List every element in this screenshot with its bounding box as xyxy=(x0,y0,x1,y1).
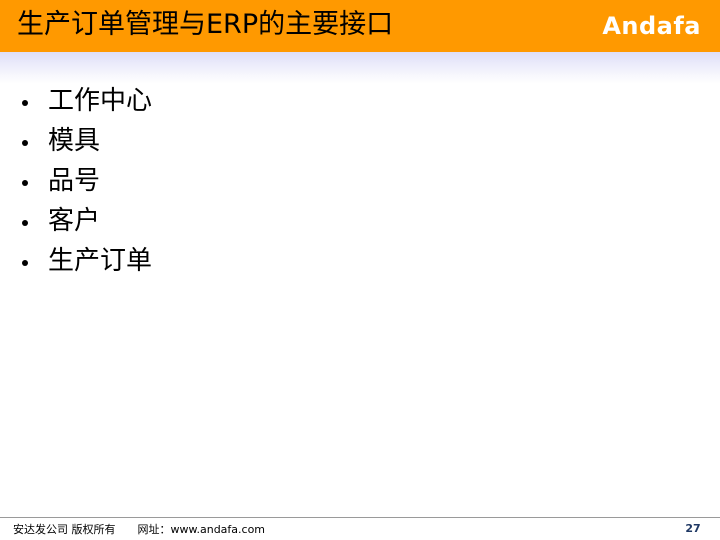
list-item-label: 客户 xyxy=(48,204,100,238)
bullet-dot-icon xyxy=(22,220,28,226)
slide-body: 工作中心 模具 品号 客户 生产订单 xyxy=(0,84,720,494)
bullet-list: 工作中心 模具 品号 客户 生产订单 xyxy=(0,84,720,284)
list-item-label: 生产订单 xyxy=(48,244,152,278)
list-item: 客户 xyxy=(0,204,720,244)
slide-title: 生产订单管理与ERP的主要接口 xyxy=(17,8,393,42)
bullet-dot-icon xyxy=(22,180,28,186)
slide-header-bar: 生产订单管理与ERP的主要接口 Andafa xyxy=(0,0,720,52)
footer-company-label: 安达发公司 版权所有 xyxy=(13,523,116,536)
list-item: 模具 xyxy=(0,124,720,164)
footer-website-label: 网址：www.andafa.com xyxy=(138,523,266,536)
slide: 生产订单管理与ERP的主要接口 Andafa 工作中心 模具 品号 客户 xyxy=(0,0,720,540)
brand-logo: Andafa xyxy=(602,11,701,41)
bullet-dot-icon xyxy=(22,140,28,146)
footer: 安达发公司 版权所有网址：www.andafa.com xyxy=(13,522,265,538)
list-item: 品号 xyxy=(0,164,720,204)
bullet-dot-icon xyxy=(22,260,28,266)
list-item-label: 模具 xyxy=(48,124,100,158)
list-item: 生产订单 xyxy=(0,244,720,284)
list-item-label: 品号 xyxy=(48,164,100,198)
list-item: 工作中心 xyxy=(0,84,720,124)
page-number: 27 xyxy=(680,521,706,537)
header-gradient-divider xyxy=(0,52,720,84)
footer-divider xyxy=(0,517,720,518)
list-item-label: 工作中心 xyxy=(48,84,152,118)
bullet-dot-icon xyxy=(22,100,28,106)
